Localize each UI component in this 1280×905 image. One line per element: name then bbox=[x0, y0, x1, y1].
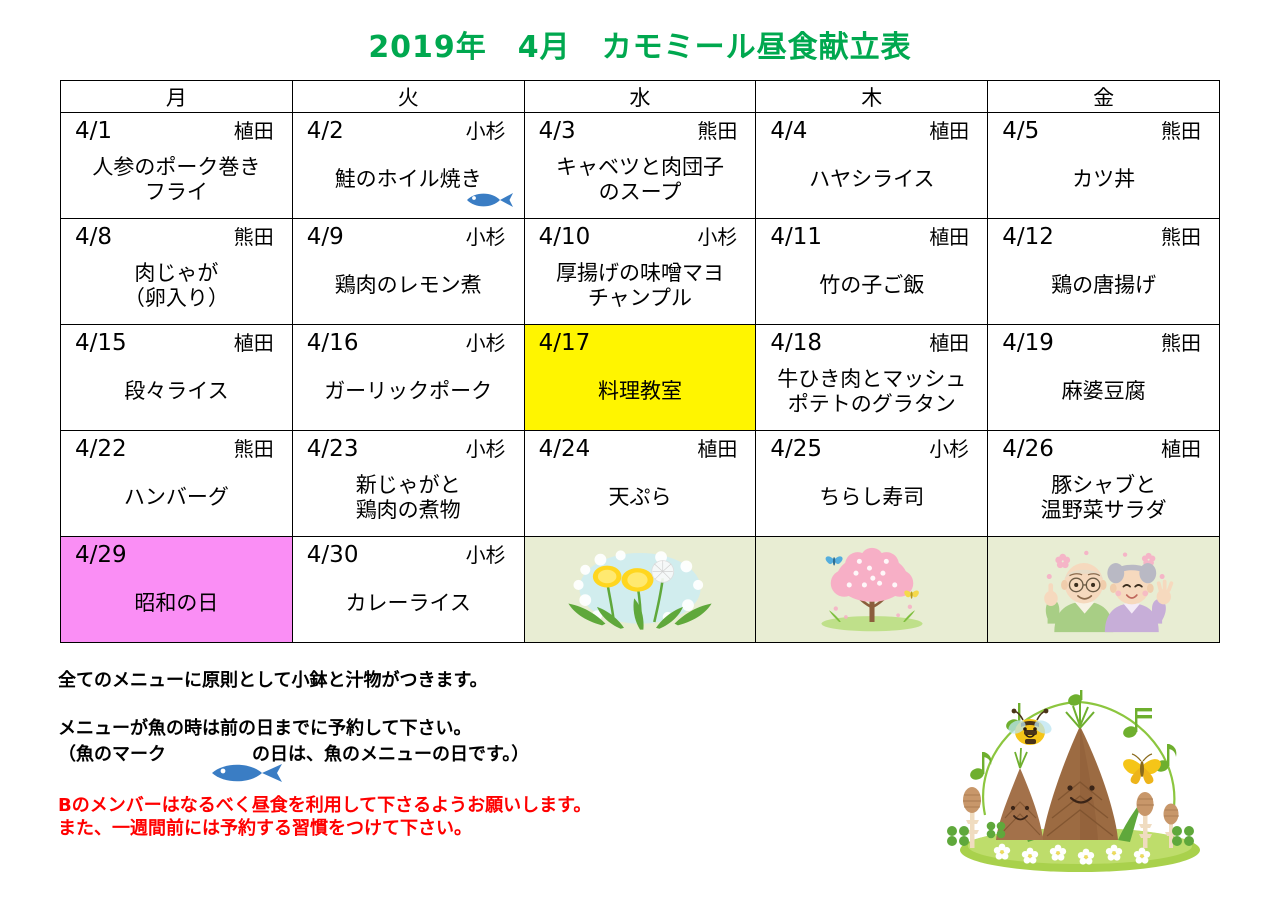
day-date: 4/10 bbox=[539, 226, 591, 249]
day-cell-header: 4/5熊田 bbox=[988, 113, 1219, 147]
day-menu-text: ハンバーグ bbox=[124, 485, 229, 509]
day-staff-name: 熊田 bbox=[1161, 333, 1207, 353]
day-menu: ちらし寿司 bbox=[756, 465, 987, 536]
day-menu-text: ガーリックポーク bbox=[324, 379, 492, 403]
calendar-day-cell: 4/2小杉鮭のホイル焼き bbox=[292, 113, 524, 219]
day-cell-header: 4/10小杉 bbox=[525, 219, 756, 253]
day-menu-text: カツ丼 bbox=[1072, 167, 1135, 191]
day-cell-header: 4/2小杉 bbox=[293, 113, 524, 147]
calendar-day-cell: 4/19熊田麻婆豆腐 bbox=[988, 325, 1220, 431]
note-line-3-before: （魚のマーク bbox=[58, 746, 166, 764]
calendar-day-cell: 4/24植田天ぷら bbox=[524, 431, 756, 537]
day-menu: 麻婆豆腐 bbox=[988, 359, 1219, 430]
note-spacer bbox=[58, 690, 858, 720]
weekday-header-tue: 火 bbox=[292, 81, 524, 113]
day-staff-name: 小杉 bbox=[929, 439, 975, 459]
day-menu-text: 段々ライス bbox=[124, 379, 228, 403]
day-staff-name: 植田 bbox=[1161, 439, 1207, 459]
day-cell-inner: 4/10小杉厚揚げの味噌マヨ チャンプル bbox=[525, 219, 756, 324]
calendar-week-row: 4/8熊田肉じゃが （卵入り）4/9小杉鶏肉のレモン煮4/10小杉厚揚げの味噌マ… bbox=[61, 219, 1220, 325]
day-menu: カレーライス bbox=[293, 571, 524, 642]
calendar-body: 4/1植田人参のポーク巻き フライ4/2小杉鮭のホイル焼き4/3熊田キャベツと肉… bbox=[61, 113, 1220, 643]
footer-notes: 全てのメニューに原則として小鉢と汁物がつきます。 メニューが魚の時は前の日までに… bbox=[58, 672, 858, 838]
day-cell-header: 4/25小杉 bbox=[756, 431, 987, 465]
day-menu: ハンバーグ bbox=[61, 465, 292, 536]
calendar-day-cell: 4/8熊田肉じゃが （卵入り） bbox=[61, 219, 293, 325]
calendar-week-row: 4/22熊田ハンバーグ4/23小杉新じゃがと 鶏肉の煮物4/24植田天ぷら4/2… bbox=[61, 431, 1220, 537]
day-staff-name: 植田 bbox=[929, 121, 975, 141]
calendar-day-cell: 4/25小杉ちらし寿司 bbox=[756, 431, 988, 537]
day-cell-header: 4/18植田 bbox=[756, 325, 987, 359]
day-cell-inner: 4/3熊田キャベツと肉団子 のスープ bbox=[525, 113, 756, 218]
day-cell-inner: 4/22熊田ハンバーグ bbox=[61, 431, 292, 536]
day-menu-text: 人参のポーク巻き フライ bbox=[92, 155, 260, 204]
day-staff-name: 熊田 bbox=[1161, 121, 1207, 141]
day-menu-text: 鮭のホイル焼き bbox=[335, 167, 482, 191]
day-menu: 牛ひき肉とマッシュ ポテトのグラタン bbox=[756, 359, 987, 430]
day-date: 4/16 bbox=[307, 332, 359, 355]
day-date: 4/3 bbox=[539, 120, 576, 143]
day-cell-inner: 4/9小杉鶏肉のレモン煮 bbox=[293, 219, 524, 324]
day-menu: キャベツと肉団子 のスープ bbox=[525, 147, 756, 218]
day-date: 4/23 bbox=[307, 438, 359, 461]
calendar-day-cell: 4/1植田人参のポーク巻き フライ bbox=[61, 113, 293, 219]
weekday-header-wed: 水 bbox=[524, 81, 756, 113]
dandelion-illustration bbox=[524, 537, 756, 643]
calendar-day-cell: 4/23小杉新じゃがと 鶏肉の煮物 bbox=[292, 431, 524, 537]
fish-icon bbox=[172, 743, 246, 767]
day-date: 4/2 bbox=[307, 120, 344, 143]
day-cell-inner: 4/5熊田カツ丼 bbox=[988, 113, 1219, 218]
calendar-day-cell: 4/22熊田ハンバーグ bbox=[61, 431, 293, 537]
day-menu: ガーリックポーク bbox=[293, 359, 524, 430]
fish-icon bbox=[466, 190, 514, 210]
day-staff-name: 植田 bbox=[697, 439, 743, 459]
cherry-blossom-tree-illustration bbox=[756, 537, 987, 642]
calendar-day-cell: 4/9小杉鶏肉のレモン煮 bbox=[292, 219, 524, 325]
day-date: 4/9 bbox=[307, 226, 344, 249]
day-menu-text: キャベツと肉団子 のスープ bbox=[556, 155, 724, 204]
day-staff-name: 植田 bbox=[929, 227, 975, 247]
day-menu: 厚揚げの味噌マヨ チャンプル bbox=[525, 253, 756, 324]
calendar-day-cell: 4/29昭和の日 bbox=[61, 537, 293, 643]
calendar-day-cell: 4/26植田豚シャブと 温野菜サラダ bbox=[988, 431, 1220, 537]
weekday-header-mon: 月 bbox=[61, 81, 293, 113]
day-menu: 料理教室 bbox=[525, 359, 756, 430]
day-menu-text: 鶏の唐揚げ bbox=[1051, 273, 1156, 297]
elderly-couple-illustration bbox=[988, 537, 1220, 643]
day-cell-header: 4/4植田 bbox=[756, 113, 987, 147]
day-menu-text: 昭和の日 bbox=[134, 591, 218, 615]
day-date: 4/17 bbox=[539, 332, 591, 355]
day-staff-name: 小杉 bbox=[697, 227, 743, 247]
calendar-day-cell: 4/10小杉厚揚げの味噌マヨ チャンプル bbox=[524, 219, 756, 325]
day-cell-header: 4/8熊田 bbox=[61, 219, 292, 253]
day-date: 4/11 bbox=[770, 226, 822, 249]
day-menu: 肉じゃが （卵入り） bbox=[61, 253, 292, 324]
day-staff-name: 小杉 bbox=[466, 227, 512, 247]
day-date: 4/29 bbox=[75, 544, 127, 567]
day-staff-name: 熊田 bbox=[234, 227, 280, 247]
calendar-week-row: 4/15植田段々ライス4/16小杉ガーリックポーク4/17料理教室4/18植田牛… bbox=[61, 325, 1220, 431]
day-cell-inner: 4/18植田牛ひき肉とマッシュ ポテトのグラタン bbox=[756, 325, 987, 430]
day-cell-header: 4/22熊田 bbox=[61, 431, 292, 465]
calendar-day-cell: 4/30小杉カレーライス bbox=[292, 537, 524, 643]
day-menu: 段々ライス bbox=[61, 359, 292, 430]
calendar-day-cell: 4/15植田段々ライス bbox=[61, 325, 293, 431]
day-cell-header: 4/19熊田 bbox=[988, 325, 1219, 359]
day-menu: 昭和の日 bbox=[61, 571, 292, 642]
day-date: 4/24 bbox=[539, 438, 591, 461]
note-line-3-after: の日は、魚のメニューの日です。） bbox=[252, 746, 529, 764]
day-cell-inner: 4/16小杉ガーリックポーク bbox=[293, 325, 524, 430]
day-cell-inner: 4/8熊田肉じゃが （卵入り） bbox=[61, 219, 292, 324]
day-menu-text: 肉じゃが （卵入り） bbox=[124, 261, 229, 310]
day-cell-inner: 4/30小杉カレーライス bbox=[293, 537, 524, 642]
day-menu-text: カレーライス bbox=[346, 591, 471, 615]
lunch-menu-calendar: 月 火 水 木 金 4/1植田人参のポーク巻き フライ4/2小杉鮭のホイル焼き4… bbox=[60, 80, 1220, 643]
note-line-2: メニューが魚の時は前の日までに予約して下さい。 bbox=[58, 720, 858, 738]
weekday-header-row: 月 火 水 木 金 bbox=[61, 81, 1220, 113]
calendar-day-cell: 4/5熊田カツ丼 bbox=[988, 113, 1220, 219]
note-red-line-1: Bのメンバーはなるべく昼食を利用して下さるようお願いします。 bbox=[58, 797, 858, 815]
calendar-day-cell: 4/12熊田鶏の唐揚げ bbox=[988, 219, 1220, 325]
day-date: 4/1 bbox=[75, 120, 112, 143]
elderly-couple-illustration bbox=[988, 537, 1219, 642]
day-cell-inner: 4/19熊田麻婆豆腐 bbox=[988, 325, 1219, 430]
day-cell-header: 4/3熊田 bbox=[525, 113, 756, 147]
day-date: 4/12 bbox=[1002, 226, 1054, 249]
day-cell-header: 4/12熊田 bbox=[988, 219, 1219, 253]
day-menu-text: 豚シャブと 温野菜サラダ bbox=[1041, 473, 1167, 522]
spring-bamboo-shoots-illustration bbox=[930, 690, 1230, 880]
calendar-week-row: 4/1植田人参のポーク巻き フライ4/2小杉鮭のホイル焼き4/3熊田キャベツと肉… bbox=[61, 113, 1220, 219]
day-date: 4/25 bbox=[770, 438, 822, 461]
note-red-line-2: また、一週間前には予約する習慣をつけて下さい。 bbox=[58, 820, 858, 838]
day-cell-inner: 4/4植田ハヤシライス bbox=[756, 113, 987, 218]
day-cell-header: 4/26植田 bbox=[988, 431, 1219, 465]
calendar-day-cell: 4/3熊田キャベツと肉団子 のスープ bbox=[524, 113, 756, 219]
day-date: 4/15 bbox=[75, 332, 127, 355]
day-cell-header: 4/29 bbox=[61, 537, 292, 571]
day-date: 4/30 bbox=[307, 544, 359, 567]
day-menu-text: 厚揚げの味噌マヨ チャンプル bbox=[556, 261, 724, 310]
day-staff-name: 植田 bbox=[234, 121, 280, 141]
note-line-1: 全てのメニューに原則として小鉢と汁物がつきます。 bbox=[58, 672, 858, 690]
weekday-header-fri: 金 bbox=[988, 81, 1220, 113]
day-date: 4/5 bbox=[1002, 120, 1039, 143]
day-cell-inner: 4/24植田天ぷら bbox=[525, 431, 756, 536]
day-cell-inner: 4/12熊田鶏の唐揚げ bbox=[988, 219, 1219, 324]
cherry-blossom-tree-illustration bbox=[756, 537, 988, 643]
day-date: 4/19 bbox=[1002, 332, 1054, 355]
weekday-header-thu: 木 bbox=[756, 81, 988, 113]
calendar-day-cell: 4/17料理教室 bbox=[524, 325, 756, 431]
day-cell-header: 4/15植田 bbox=[61, 325, 292, 359]
day-staff-name: 植田 bbox=[234, 333, 280, 353]
day-cell-inner: 4/11植田竹の子ご飯 bbox=[756, 219, 987, 324]
day-cell-inner: 4/23小杉新じゃがと 鶏肉の煮物 bbox=[293, 431, 524, 536]
day-menu: ハヤシライス bbox=[756, 147, 987, 218]
day-staff-name: 小杉 bbox=[466, 333, 512, 353]
day-staff-name: 小杉 bbox=[466, 545, 512, 565]
day-staff-name: 小杉 bbox=[466, 121, 512, 141]
day-date: 4/26 bbox=[1002, 438, 1054, 461]
day-cell-header: 4/1植田 bbox=[61, 113, 292, 147]
day-menu-text: ちらし寿司 bbox=[819, 485, 924, 509]
day-menu-text: 鶏肉のレモン煮 bbox=[335, 273, 482, 297]
day-cell-header: 4/23小杉 bbox=[293, 431, 524, 465]
day-menu: 人参のポーク巻き フライ bbox=[61, 147, 292, 218]
day-menu: 豚シャブと 温野菜サラダ bbox=[988, 465, 1219, 536]
day-menu: 鶏肉のレモン煮 bbox=[293, 253, 524, 324]
day-date: 4/4 bbox=[770, 120, 807, 143]
day-menu: 新じゃがと 鶏肉の煮物 bbox=[293, 465, 524, 536]
day-date: 4/22 bbox=[75, 438, 127, 461]
day-menu-text: 麻婆豆腐 bbox=[1062, 379, 1146, 403]
day-cell-inner: 4/2小杉鮭のホイル焼き bbox=[293, 113, 524, 218]
calendar-day-cell: 4/16小杉ガーリックポーク bbox=[292, 325, 524, 431]
day-menu-text: 竹の子ご飯 bbox=[819, 273, 924, 297]
day-staff-name: 熊田 bbox=[1161, 227, 1207, 247]
day-cell-inner: 4/17料理教室 bbox=[525, 325, 756, 430]
day-staff-name: 熊田 bbox=[697, 121, 743, 141]
day-menu-text: ハヤシライス bbox=[809, 167, 934, 191]
day-menu-text: 天ぷら bbox=[608, 485, 671, 509]
day-cell-inner: 4/15植田段々ライス bbox=[61, 325, 292, 430]
day-cell-header: 4/16小杉 bbox=[293, 325, 524, 359]
day-cell-inner: 4/1植田人参のポーク巻き フライ bbox=[61, 113, 292, 218]
day-cell-inner: 4/26植田豚シャブと 温野菜サラダ bbox=[988, 431, 1219, 536]
day-menu: 竹の子ご飯 bbox=[756, 253, 987, 324]
day-menu: 鶏の唐揚げ bbox=[988, 253, 1219, 324]
day-menu: 鮭のホイル焼き bbox=[293, 147, 524, 218]
day-cell-header: 4/24植田 bbox=[525, 431, 756, 465]
day-cell-inner: 4/29昭和の日 bbox=[61, 537, 292, 642]
day-menu-text: 新じゃがと 鶏肉の煮物 bbox=[356, 473, 461, 522]
calendar-week-row: 4/29昭和の日4/30小杉カレーライス bbox=[61, 537, 1220, 643]
day-staff-name: 熊田 bbox=[234, 439, 280, 459]
day-menu: 天ぷら bbox=[525, 465, 756, 536]
day-date: 4/8 bbox=[75, 226, 112, 249]
day-date: 4/18 bbox=[770, 332, 822, 355]
day-menu-text: 牛ひき肉とマッシュ ポテトのグラタン bbox=[777, 367, 966, 416]
calendar-day-cell: 4/11植田竹の子ご飯 bbox=[756, 219, 988, 325]
day-cell-header: 4/30小杉 bbox=[293, 537, 524, 571]
day-cell-header: 4/17 bbox=[525, 325, 756, 359]
day-staff-name: 小杉 bbox=[466, 439, 512, 459]
day-cell-header: 4/9小杉 bbox=[293, 219, 524, 253]
day-cell-inner: 4/25小杉ちらし寿司 bbox=[756, 431, 987, 536]
note-line-3: （魚のマーク の日は、魚のメニューの日です。） bbox=[58, 743, 858, 767]
dandelion-illustration bbox=[525, 537, 756, 642]
day-staff-name: 植田 bbox=[929, 333, 975, 353]
day-menu-text: 料理教室 bbox=[598, 379, 682, 403]
calendar-day-cell: 4/4植田ハヤシライス bbox=[756, 113, 988, 219]
day-menu: カツ丼 bbox=[988, 147, 1219, 218]
page-title: 2019年 4月 カモミール昼食献立表 bbox=[0, 22, 1280, 66]
calendar-day-cell: 4/18植田牛ひき肉とマッシュ ポテトのグラタン bbox=[756, 325, 988, 431]
day-cell-header: 4/11植田 bbox=[756, 219, 987, 253]
